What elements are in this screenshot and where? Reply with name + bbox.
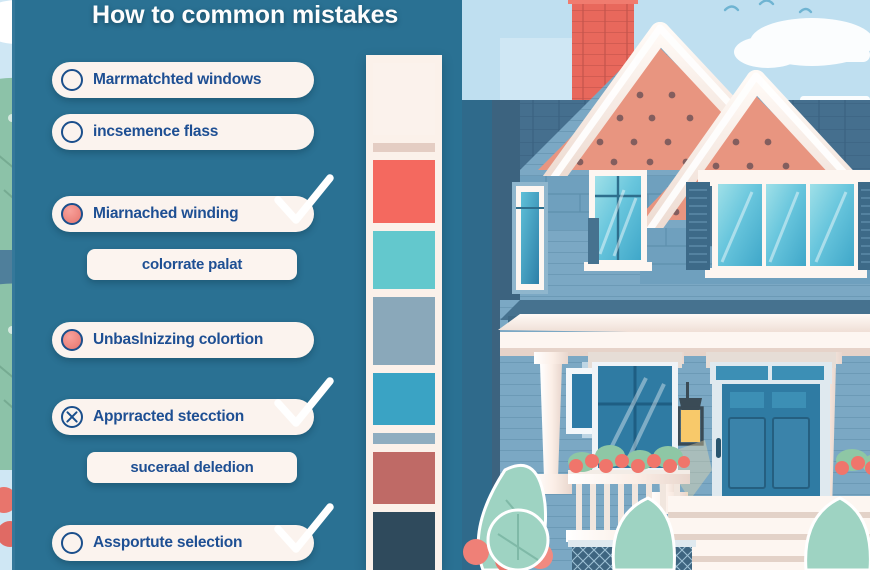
checklist-item-label: suceraal deledion — [130, 459, 253, 476]
checklist-subitem[interactable]: suceraal deledion — [87, 452, 297, 483]
checklist-item[interactable]: Unbaslnizzing colortion — [52, 322, 314, 358]
palette-swatch-brick-rose[interactable] — [373, 452, 435, 504]
upper-window-triple — [686, 170, 870, 278]
palette-swatch-deep-navy[interactable] — [373, 512, 435, 570]
circle-filled-icon[interactable] — [61, 329, 83, 351]
palette-swatch-coral-red[interactable] — [373, 160, 435, 223]
shutter-left — [686, 182, 710, 270]
circle-outline-icon[interactable] — [61, 121, 83, 143]
palette-swatch-cream-white[interactable] — [373, 63, 435, 135]
checklist-subitem[interactable]: colorrate palat — [87, 249, 297, 280]
checklist-item[interactable]: Miarnached winding — [52, 196, 314, 232]
checklist-item-label: Miarnached winding — [93, 205, 238, 223]
circle-outline-icon[interactable] — [61, 69, 83, 91]
checklist-item-label: Assportute selection — [93, 534, 242, 552]
checklist-item[interactable]: incsemence flass — [52, 114, 314, 150]
palette-swatch-blush-beige[interactable] — [373, 143, 435, 152]
circle-filled-icon[interactable] — [61, 203, 83, 225]
palette-swatch-turquoise[interactable] — [373, 231, 435, 289]
porch-roof — [498, 300, 870, 356]
circle-cross-icon[interactable] — [61, 406, 83, 428]
color-palette-card[interactable] — [366, 55, 442, 570]
shutter-right — [858, 182, 870, 270]
checklist-item-label: Marrmatchted windows — [93, 71, 261, 89]
palette-swatch-slate-blue[interactable] — [373, 297, 435, 365]
checklist-item-label: Apprracted stecction — [93, 408, 244, 426]
checklist-item[interactable]: Apprracted stecction — [52, 399, 314, 435]
checklist-item-label: Unbaslnizzing colortion — [93, 331, 263, 349]
palette-swatch-teal-blue[interactable] — [373, 373, 435, 425]
palette-swatch-dusty-blue[interactable] — [373, 433, 435, 444]
screenshot-root: How to common mistakes Marrmatchted wind… — [0, 0, 870, 570]
side-window — [512, 182, 548, 294]
page-title: How to common mistakes — [92, 1, 452, 30]
checklist-item[interactable]: Marrmatchted windows — [52, 62, 314, 98]
checklist-item-label: colorrate palat — [142, 256, 242, 273]
checklist-item-label: incsemence flass — [93, 123, 218, 141]
checklist-item[interactable]: Assportute selection — [52, 525, 314, 561]
circle-outline-icon[interactable] — [61, 532, 83, 554]
